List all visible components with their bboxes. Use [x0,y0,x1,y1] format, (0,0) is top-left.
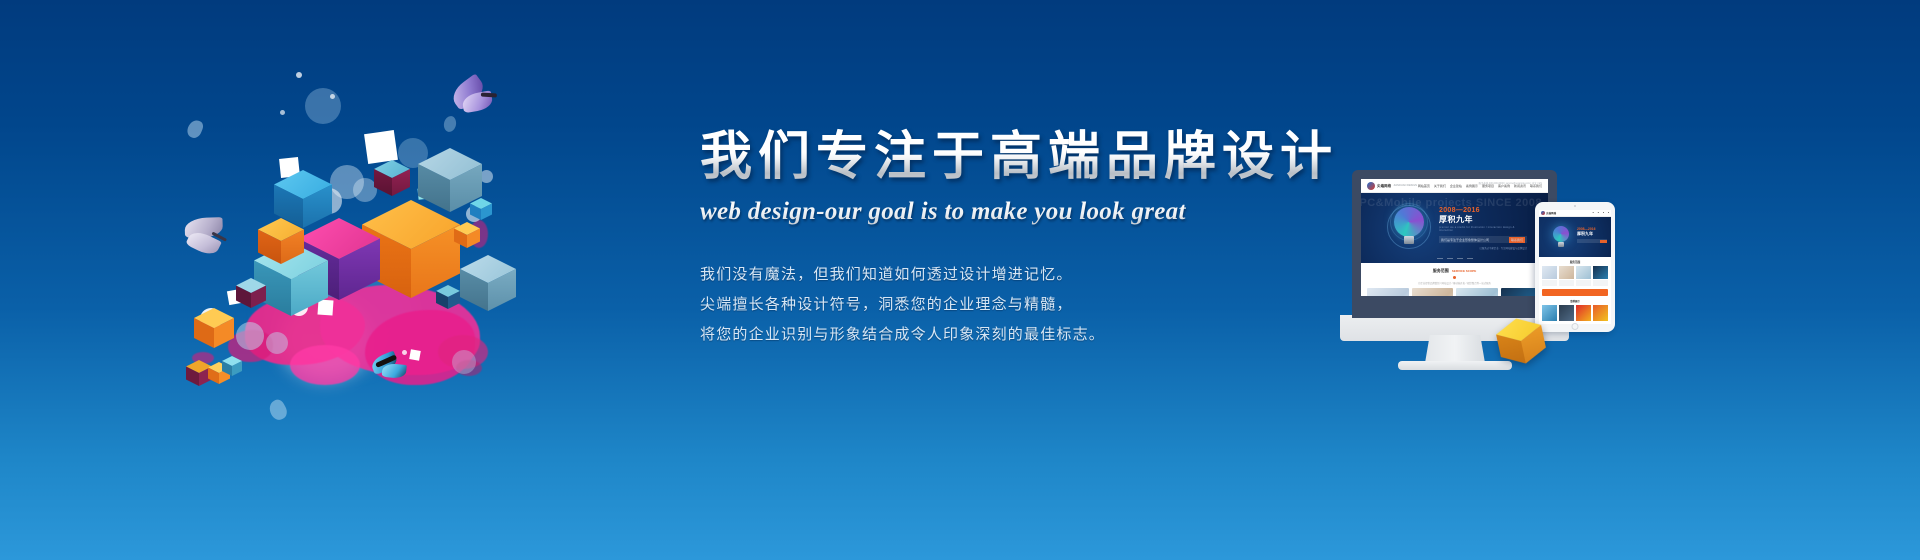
hero-note: 已服务过千家企业 · 专注网站建设与品牌设计 [1439,246,1527,250]
cube-orange-tiny [454,222,480,248]
hero-cta-bar [1577,239,1607,243]
service-card[interactable] [1456,288,1498,296]
cube-orange-small [258,218,304,264]
case-thumbnail[interactable] [1542,305,1557,321]
service-card[interactable] [1593,266,1608,279]
orange-cube [1494,314,1549,369]
tablet-device: 尖端网络 ■ ■ ■ ■ 2008—2016 厚积九年 [1535,202,1615,332]
monitor-bottom-bezel [1352,298,1557,318]
hero-headline: 厚积九年 [1577,231,1607,237]
nav-item[interactable]: ■ [1593,212,1594,214]
desktop-monitor: 尖端网络 JIANDUAN DESIGN 网站首页 关于我们 企业建站 案例展示… [1352,170,1557,318]
tablet-nav-links[interactable]: ■ ■ ■ ■ [1593,212,1609,214]
site-logo-text: 尖端网络 [1377,183,1391,188]
case-thumbnail-list [1542,305,1608,321]
case-thumbnail[interactable] [1559,305,1574,321]
section-title: 服务范围 SERVICE SCOPE [1367,268,1542,274]
cube-steel-2 [460,255,516,311]
service-card[interactable] [1412,288,1454,296]
description-line-2: 尖端擅长各种设计符号，洞悉您的企业理念与精髓， [700,290,1340,320]
carousel-dot[interactable] [1447,258,1453,260]
section-divider-dot [1453,276,1456,279]
hero-text: 2008—2016 厚积九年 premier we a studio for i… [1439,207,1527,250]
hero-description: 我们没有魔法，但我们知道如何透过设计增进记忆。 尖端擅长各种设计符号，洞悉您的企… [700,260,1340,350]
nav-item[interactable]: ■ [1603,212,1604,214]
bulb-globe [1394,207,1424,237]
service-card-list [1367,288,1542,296]
hero-carousel-dots[interactable] [1437,258,1473,260]
site-service-section: 服务范围 SERVICE SCOPE 为企业提供品牌策划 / 网站设计 / 移动… [1361,263,1548,296]
card-label [1576,280,1591,286]
tablet-screen: 尖端网络 ■ ■ ■ ■ 2008—2016 厚积九年 [1539,210,1611,324]
section-description: 为企业提供品牌策划 / 网站设计 / 移动端开发 / 视觉整合等一站式服务 [1367,281,1542,285]
service-card[interactable] [1367,288,1409,296]
bulb-globe [1553,226,1569,242]
cube-teal-bottom [222,356,242,376]
description-line-1: 我们没有魔法，但我们知道如何透过设计增进记忆。 [700,260,1340,290]
card-label [1593,280,1608,286]
case-thumbnail[interactable] [1593,305,1608,321]
tablet-cta-banner[interactable] [1542,289,1608,296]
nav-item[interactable]: 案例展示 [1466,184,1478,188]
service-card[interactable] [1576,266,1591,279]
tablet-navbar: 尖端网络 ■ ■ ■ ■ [1539,210,1611,217]
service-card-list [1542,266,1608,279]
nav-item[interactable]: 网站首页 [1418,184,1430,188]
bulb-base [1558,242,1564,247]
logo-mark-icon [1541,211,1545,215]
hero-cta-button[interactable]: 联系我们 [1509,237,1525,243]
page-title: 我们专注于高端品牌设计 [700,128,1340,186]
hero-banner: 我们专注于高端品牌设计 web design-our goal is to ma… [0,0,1920,560]
cube-maroon [374,160,410,196]
site-hero-banner: We have done PC&Mobile projects SINCE 20… [1361,193,1548,263]
section-title-2: 案例展示 [1542,299,1608,303]
service-card[interactable] [1542,266,1557,279]
lightbulb-graphic [1549,225,1573,249]
hero-headline: 厚积九年 [1439,214,1527,225]
nav-item[interactable]: ■ [1598,212,1599,214]
nav-item[interactable]: ■ [1608,212,1609,214]
tablet-hero: 2008—2016 厚积九年 [1539,217,1611,257]
lightbulb-graphic [1387,205,1431,249]
case-thumbnail[interactable] [1576,305,1591,321]
cube-cyan-small [470,198,492,220]
service-card[interactable] [1559,266,1574,279]
monitor-screen: 尖端网络 JIANDUAN DESIGN 网站首页 关于我们 企业建站 案例展示… [1361,179,1548,296]
nav-item[interactable]: 企业建站 [1450,184,1462,188]
hero-cta-text: 我们是专注于企业形象整体设计公司 [1441,238,1489,242]
website-preview-desktop: 尖端网络 JIANDUAN DESIGN 网站首页 关于我们 企业建站 案例展示… [1361,179,1548,296]
service-card-labels [1542,280,1608,286]
page-subtitle: web design-our goal is to make you look … [700,198,1340,226]
section-title-cn: 服务范围 [1433,268,1449,273]
cube-maroon-mid [236,278,266,308]
monitor-foot [1398,361,1512,370]
hero-text-block: 我们专注于高端品牌设计 web design-our goal is to ma… [700,128,1340,350]
tablet-home-button[interactable] [1572,323,1579,330]
site-logo: 尖端网络 JIANDUAN DESIGN [1367,182,1417,190]
section-title: 服务范围 [1542,260,1608,264]
hero-cta-bar: 我们是专注于企业形象整体设计公司 联系我们 [1439,236,1527,243]
cube-navy-small [436,285,460,309]
hero-subtext: premier we a studio for illustration / i… [1439,226,1527,232]
hero-year: 2008—2016 [1439,207,1527,214]
tablet-camera-icon [1574,205,1576,207]
cube-orange-bottom [194,308,234,348]
carousel-dot[interactable] [1457,258,1463,260]
description-line-3: 将您的企业识别与形象结合成令人印象深刻的最佳标志。 [700,320,1340,350]
section-title-en: SERVICE SCOPE [1452,269,1476,273]
card-label [1542,280,1557,286]
monitor-neck [1425,335,1485,363]
hero-cta-button[interactable] [1600,240,1607,243]
logo-mark-icon [1367,182,1375,190]
carousel-dot[interactable] [1467,258,1473,260]
nav-item[interactable]: 关于我们 [1434,184,1446,188]
butterfly-blue [368,350,417,389]
tablet-hero-text: 2008—2016 厚积九年 [1577,227,1607,243]
abstract-artwork [170,60,590,460]
card-label [1559,280,1574,286]
carousel-dot[interactable] [1437,258,1443,260]
tablet-logo-text: 尖端网络 [1546,211,1556,215]
device-mockup-group: 尖端网络 JIANDUAN DESIGN 网站首页 关于我们 企业建站 案例展示… [1330,160,1630,380]
tablet-service-section: 服务范围 案例展示 [1539,257,1611,321]
site-logo-subtext: JIANDUAN DESIGN [1393,184,1417,187]
bulb-base [1404,236,1414,244]
site-contact-strip: 服务热线 400-000-0000 | service@example.com … [1479,181,1542,185]
